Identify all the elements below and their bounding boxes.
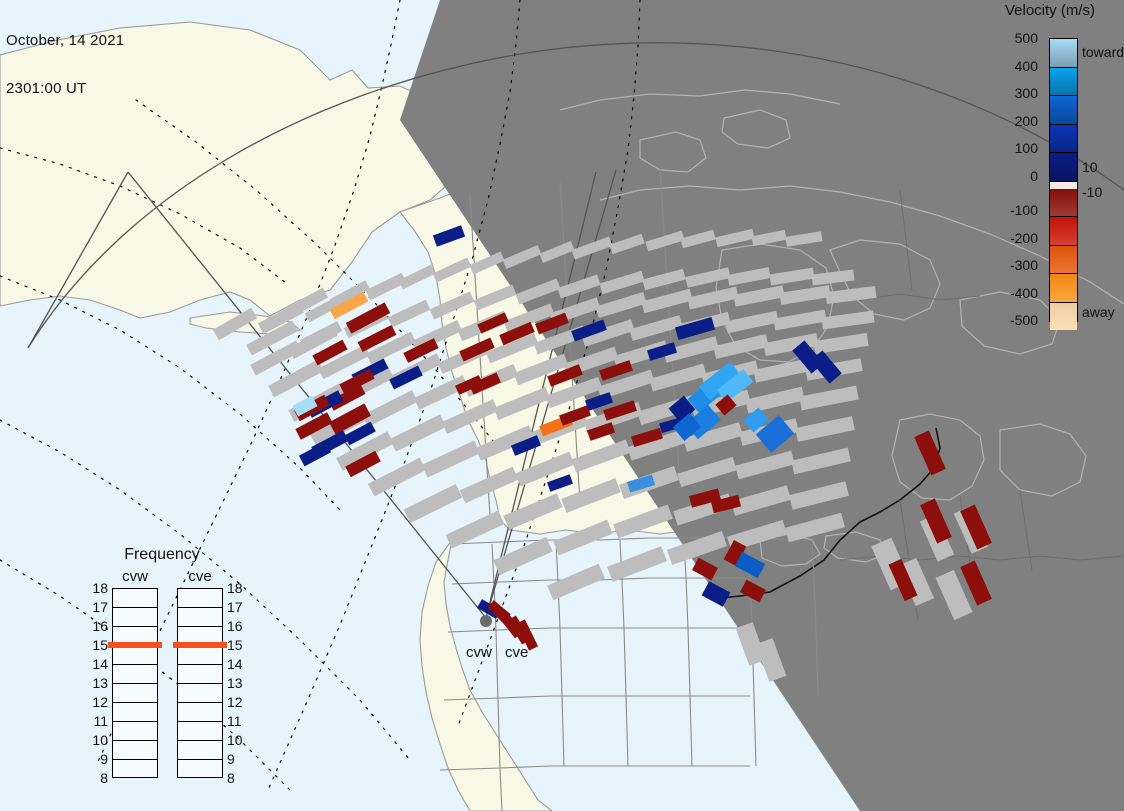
colorbar-band-pos-0 — [1050, 39, 1077, 68]
frequency-tick-11: 11 — [227, 713, 253, 729]
frequency-tick-18: 18 — [227, 580, 253, 596]
frequency-tick-17: 17 — [82, 599, 108, 615]
timestamp-time: 2301:00 UT — [6, 81, 124, 97]
colorbar-zero-gap — [1050, 182, 1077, 189]
superdarn-velocity-map: October, 14 2021 2301:00 UT Velocity (m/… — [0, 0, 1124, 811]
frequency-scale-cell — [113, 760, 157, 779]
colorbar-tick-neg400: -400 — [1010, 285, 1038, 301]
colorbar-tick-0: 0 — [1030, 168, 1038, 184]
frequency-scale-cell — [178, 722, 222, 741]
frequency-tick-9: 9 — [82, 751, 108, 767]
frequency-tick-8: 8 — [227, 770, 253, 786]
colorbar-band-neg-2 — [1050, 246, 1077, 275]
colorbar-tick-100: 100 — [1015, 140, 1038, 156]
colorbar-tick-neg100: -100 — [1010, 202, 1038, 218]
frequency-tick-15: 15 — [227, 637, 253, 653]
frequency-tick-16: 16 — [82, 618, 108, 634]
colorbar-tick-400: 400 — [1015, 58, 1038, 74]
frequency-tick-11: 11 — [82, 713, 108, 729]
colorbar-band-neg-4 — [1050, 303, 1077, 331]
frequency-column-label-cvw: cvw — [112, 568, 158, 585]
frequency-scale-cell — [178, 684, 222, 703]
frequency-tick-13: 13 — [227, 675, 253, 691]
timestamp-date: October, 14 2021 — [6, 33, 124, 49]
radar-site-marker — [480, 615, 492, 627]
frequency-tick-12: 12 — [82, 694, 108, 710]
colorbar-tick-300: 300 — [1015, 85, 1038, 101]
frequency-scale-box-cvw — [112, 588, 158, 778]
frequency-tick-10: 10 — [82, 732, 108, 748]
frequency-tick-16: 16 — [227, 618, 253, 634]
frequency-tick-12: 12 — [227, 694, 253, 710]
frequency-tick-14: 14 — [82, 656, 108, 672]
colorbar-band-pos-2 — [1050, 96, 1077, 125]
frequency-tick-9: 9 — [227, 751, 253, 767]
frequency-scale-cell — [113, 741, 157, 760]
frequency-scale-cell — [113, 703, 157, 722]
frequency-scale-cell — [178, 608, 222, 627]
colorbar-tick-500: 500 — [1015, 30, 1038, 46]
timestamp-block: October, 14 2021 2301:00 UT — [6, 1, 124, 129]
frequency-scale-cell — [178, 703, 222, 722]
colorbar-tick-neg300: -300 — [1010, 257, 1038, 273]
site-label-cve: cve — [505, 644, 528, 661]
frequency-scale-cell — [113, 684, 157, 703]
colorbar-tick-200: 200 — [1015, 113, 1038, 129]
colorbar-tick-neg500: -500 — [1010, 312, 1038, 328]
colorbar-tick-labels: 5004003002001000-100-200-300-400-500 — [980, 30, 1044, 330]
frequency-scale-cell — [178, 646, 222, 665]
frequency-tick-15: 15 — [82, 637, 108, 653]
colorbar-band-pos-3 — [1050, 125, 1077, 154]
colorbar-band-pos-4 — [1050, 153, 1077, 182]
frequency-tick-10: 10 — [227, 732, 253, 748]
frequency-marker-cve — [173, 642, 227, 648]
colorbar-side-label-10: 10 — [1082, 159, 1098, 175]
colorbar-side-label-toward: toward — [1082, 44, 1124, 60]
frequency-tick-13: 13 — [82, 675, 108, 691]
frequency-scale-cell — [113, 589, 157, 608]
frequency-marker-cvw — [108, 642, 162, 648]
colorbar-band-pos-1 — [1050, 68, 1077, 97]
colorbar-band-neg-0 — [1050, 189, 1077, 218]
frequency-scale-cell — [178, 589, 222, 608]
velocity-colorbar-panel: Velocity (m/s) 5004003002001000-100-200-… — [980, 0, 1124, 340]
colorbar-band-neg-3 — [1050, 274, 1077, 303]
frequency-column-label-cve: cve — [177, 568, 223, 585]
colorbar-band-neg-1 — [1050, 217, 1077, 246]
frequency-scale-box-cve — [177, 588, 223, 778]
frequency-scale-cell — [113, 608, 157, 627]
frequency-legend-title: Frequency — [82, 546, 242, 564]
site-label-cvw: cvw — [466, 644, 492, 661]
colorbar-title: Velocity (m/s) — [980, 2, 1120, 19]
frequency-scale-cell — [178, 760, 222, 779]
frequency-tick-18: 18 — [82, 580, 108, 596]
frequency-scale-cell — [113, 646, 157, 665]
colorbar-strip — [1049, 38, 1078, 322]
colorbar-side-labels: toward10-10away — [1082, 30, 1124, 330]
colorbar-side-label-neg10: -10 — [1082, 184, 1102, 200]
colorbar-tick-neg200: -200 — [1010, 230, 1038, 246]
frequency-scale-cell — [113, 665, 157, 684]
frequency-legend-panel: Frequency cvw18171615141312111098cve1817… — [82, 546, 242, 786]
frequency-tick-8: 8 — [82, 770, 108, 786]
colorbar-side-label-away: away — [1082, 304, 1115, 320]
frequency-tick-17: 17 — [227, 599, 253, 615]
frequency-scale-cell — [113, 722, 157, 741]
frequency-scale-cell — [178, 665, 222, 684]
frequency-scale-cell — [178, 741, 222, 760]
frequency-tick-14: 14 — [227, 656, 253, 672]
